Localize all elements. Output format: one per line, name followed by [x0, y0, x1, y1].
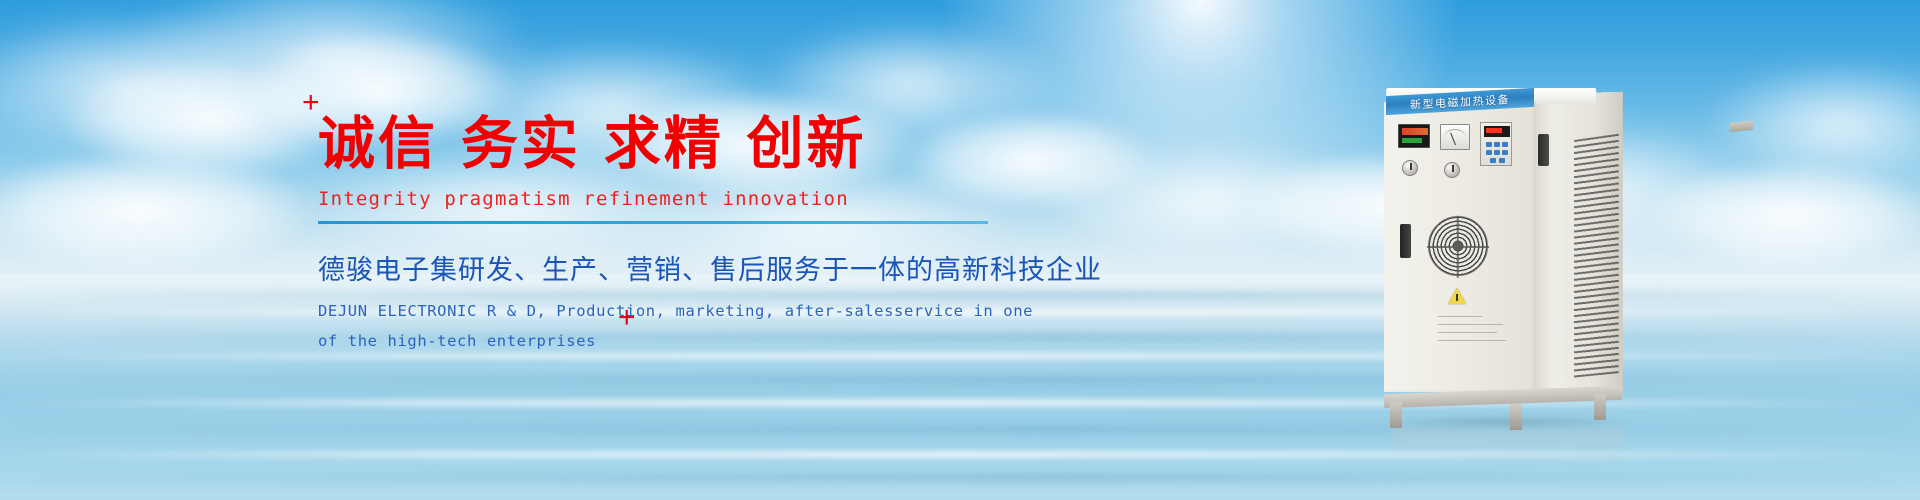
plus-decoration-icon: +: [302, 88, 320, 118]
keypad-button: [1499, 158, 1505, 163]
description-line-1: DEJUN ELECTRONIC R & D, Production, mark…: [318, 296, 1008, 326]
promotional-banner: + 诚信 务实 求精 创新 Integrity pragmatism refin…: [0, 0, 1920, 500]
fan-support-arm: [1457, 216, 1459, 278]
banner-text-block: + 诚信 务实 求精 创新 Integrity pragmatism refin…: [318, 88, 1008, 356]
divider-rule: [318, 221, 988, 224]
fan-support-arm: [1427, 246, 1489, 248]
keypad-display: [1484, 126, 1510, 137]
product-machine-image: 新型电磁加热设备: [1382, 72, 1682, 452]
front-door-handle: [1400, 224, 1411, 258]
machine-foot: [1594, 394, 1606, 420]
description-english-block: DEJUN ELECTRONIC R & D, Production, mark…: [318, 296, 1008, 356]
keypad-button: [1494, 142, 1500, 147]
tagline-english: Integrity pragmatism refinement innovati…: [318, 188, 1008, 210]
keypad-button: [1486, 150, 1492, 155]
machine-foot: [1390, 402, 1402, 428]
keypad-display-digits: [1486, 128, 1502, 133]
description-line-2: of the high-tech enterprises: [318, 326, 1008, 356]
side-door-handle: [1538, 134, 1549, 166]
ventilation-slots-icon: [1574, 134, 1619, 378]
machine-foot: [1510, 404, 1522, 430]
adjustment-knob: [1444, 162, 1460, 178]
subheadline-chinese: 德骏电子集研发、生产、营销、售后服务于一体的高新科技企业: [318, 248, 1008, 287]
gauge-scale-arc: [1444, 129, 1466, 138]
keypad-button: [1486, 142, 1492, 147]
cooling-fan-grille-icon: [1428, 216, 1488, 276]
power-selector-knob: [1402, 160, 1418, 176]
high-voltage-warning-icon: [1448, 288, 1466, 304]
side-vent-slot: [1729, 121, 1752, 133]
digital-readout-secondary: [1402, 138, 1422, 143]
analog-ammeter-gauge: [1440, 124, 1470, 150]
digital-temperature-controller: [1398, 124, 1430, 148]
machine-side-panel: [1536, 92, 1623, 397]
keypad-button: [1502, 150, 1508, 155]
digital-readout-primary: [1402, 128, 1428, 135]
machine-reflection: [1392, 428, 1622, 462]
control-keypad-module: [1480, 122, 1512, 166]
keypad-button: [1502, 142, 1508, 147]
keypad-button: [1490, 158, 1496, 163]
headline-chinese: 诚信 务实 求精 创新: [318, 114, 1008, 176]
keypad-button: [1494, 150, 1500, 155]
plus-decoration-icon-secondary: +: [618, 303, 636, 333]
specification-label: [1438, 316, 1512, 354]
